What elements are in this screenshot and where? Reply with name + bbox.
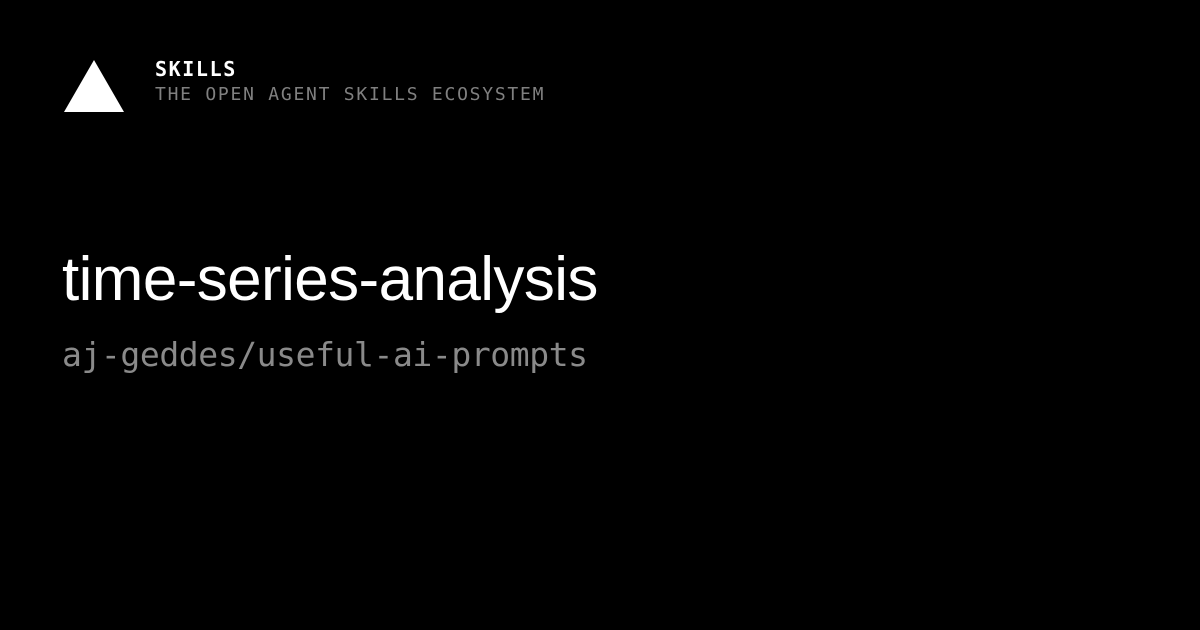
brand-text-group: SKILLS THE OPEN AGENT SKILLS ECOSYSTEM — [155, 56, 545, 108]
triangle-logo-icon — [64, 60, 124, 116]
social-preview-card: SKILLS THE OPEN AGENT SKILLS ECOSYSTEM t… — [0, 0, 1200, 630]
brand-header: SKILLS THE OPEN AGENT SKILLS ECOSYSTEM — [64, 56, 545, 116]
repository-path: aj-geddes/useful-ai-prompts — [62, 333, 1122, 377]
page-title: time-series-analysis — [62, 244, 1122, 316]
brand-tagline: THE OPEN AGENT SKILLS ECOSYSTEM — [155, 82, 545, 108]
hero-block: time-series-analysis aj-geddes/useful-ai… — [62, 244, 1122, 377]
brand-name: SKILLS — [155, 56, 545, 82]
